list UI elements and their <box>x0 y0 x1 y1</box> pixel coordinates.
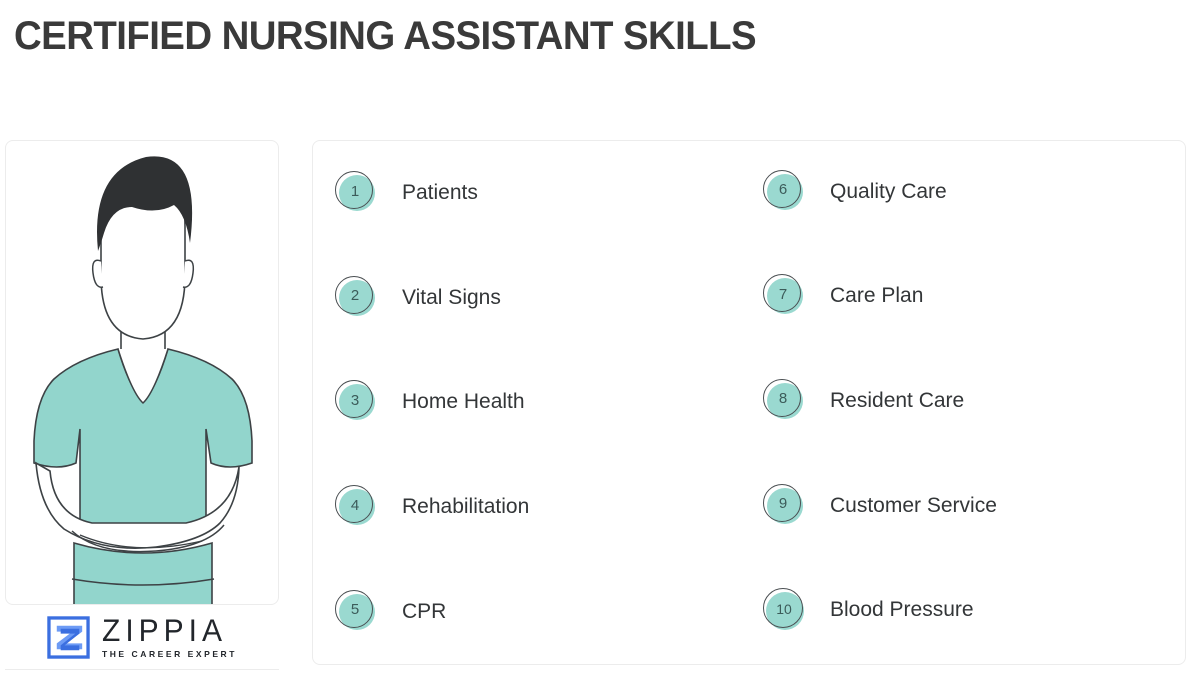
skill-label: CPR <box>402 600 446 624</box>
badge-number: 5 <box>335 590 375 630</box>
skill-item-8[interactable]: 8 Resident Care <box>763 347 1193 455</box>
skill-item-7[interactable]: 7 Care Plan <box>763 243 1193 351</box>
zippia-wordmark: ZIPPIA <box>102 616 237 648</box>
page-title: CERTIFIED NURSING ASSISTANT SKILLS <box>14 14 756 59</box>
skills-column-right: 6 Quality Care 7 Care Plan 8 Resident Ca… <box>763 141 1193 664</box>
badge-number: 6 <box>763 170 803 210</box>
skill-number-badge: 4 <box>335 485 379 529</box>
badge-number: 1 <box>335 171 375 211</box>
skill-label: Home Health <box>402 390 525 414</box>
skill-label: Blood Pressure <box>830 598 974 622</box>
skill-label: Rehabilitation <box>402 495 529 519</box>
badge-number: 7 <box>763 274 803 314</box>
badge-number: 8 <box>763 379 803 419</box>
skill-label: Care Plan <box>830 284 923 308</box>
skill-label: Resident Care <box>830 389 964 413</box>
skills-column-left: 1 Patients 2 Vital Signs 3 Home Health <box>335 141 765 664</box>
skill-label: Patients <box>402 181 478 205</box>
badge-number: 10 <box>763 588 805 630</box>
skill-item-9[interactable]: 9 Customer Service <box>763 452 1193 560</box>
illustration-card <box>5 140 279 605</box>
badge-number: 4 <box>335 485 375 525</box>
zippia-tagline: THE CAREER EXPERT <box>102 650 237 659</box>
skill-number-badge: 1 <box>335 171 379 215</box>
skill-number-badge: 2 <box>335 276 379 320</box>
skill-number-badge: 10 <box>763 588 807 632</box>
skill-item-4[interactable]: 4 Rehabilitation <box>335 455 765 560</box>
skill-item-2[interactable]: 2 Vital Signs <box>335 246 765 351</box>
nursing-assistant-illustration <box>6 140 279 605</box>
skill-item-5[interactable]: 5 CPR <box>335 559 765 664</box>
zippia-logo: ZIPPIA THE CAREER EXPERT <box>5 606 279 670</box>
skill-item-3[interactable]: 3 Home Health <box>335 350 765 455</box>
skill-label: Customer Service <box>830 494 997 518</box>
badge-number: 3 <box>335 380 375 420</box>
skill-number-badge: 3 <box>335 380 379 424</box>
skills-panel: 1 Patients 2 Vital Signs 3 Home Health <box>312 140 1186 665</box>
skill-number-badge: 9 <box>763 484 807 528</box>
skill-item-10[interactable]: 10 Blood Pressure <box>763 556 1193 664</box>
skill-item-6[interactable]: 6 Quality Care <box>763 138 1193 246</box>
skill-number-badge: 8 <box>763 379 807 423</box>
badge-number: 9 <box>763 484 803 524</box>
skill-number-badge: 5 <box>335 590 379 634</box>
zippia-z-mark <box>47 616 90 659</box>
skill-number-badge: 7 <box>763 274 807 318</box>
skill-label: Vital Signs <box>402 286 501 310</box>
badge-number: 2 <box>335 276 375 316</box>
skill-label: Quality Care <box>830 180 947 204</box>
skill-item-1[interactable]: 1 Patients <box>335 141 765 246</box>
skill-number-badge: 6 <box>763 170 807 214</box>
